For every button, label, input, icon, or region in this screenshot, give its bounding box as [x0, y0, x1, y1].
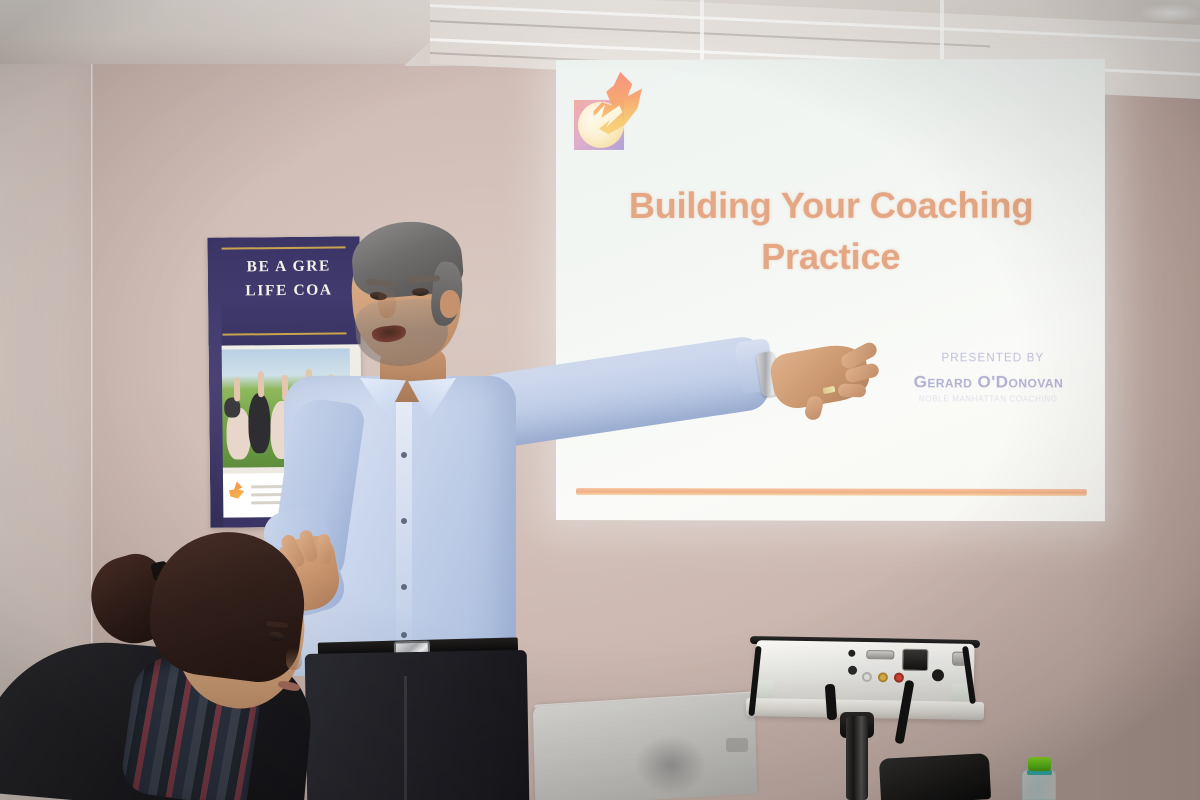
- projector-hdmi-port: [902, 649, 928, 671]
- projector-rca-red: [894, 673, 904, 683]
- poster-person: [248, 393, 271, 453]
- projector-vga-port: [866, 650, 894, 659]
- woman-nose: [286, 648, 302, 670]
- poster-flame-icon: [227, 481, 245, 501]
- ceiling-grid-rail: [940, 0, 944, 66]
- poster-raised-arm: [258, 371, 264, 397]
- presentation-room-photo: Building Your Coaching Practice Presente…: [0, 0, 1200, 800]
- shirt-button: [401, 632, 407, 638]
- projected-slide: Building Your Coaching Practice Presente…: [556, 59, 1105, 522]
- slide-title-line-2: Practice: [600, 231, 1062, 282]
- slide-accent-bar: [576, 488, 1087, 496]
- laptop-reflection: [636, 736, 706, 794]
- ceiling-light-fixture: [1140, 4, 1200, 22]
- presenter-finger: [838, 384, 866, 398]
- trouser-crease: [404, 676, 407, 800]
- poster-title-line-1: BE A GRE: [220, 254, 358, 279]
- ceiling-grid-rail: [700, 0, 704, 66]
- ceiling-projector: [755, 640, 974, 706]
- shirt-button: [401, 584, 407, 590]
- shirt-placket: [396, 386, 412, 668]
- laptop-logo-badge: [726, 738, 748, 752]
- projector-stand-pole: [846, 716, 868, 800]
- equipment-bag: [879, 753, 991, 800]
- projector-rca-white: [862, 672, 872, 682]
- presented-by-label: Presented By: [887, 352, 1099, 364]
- projector-port: [848, 666, 857, 675]
- slide-title: Building Your Coaching Practice: [600, 179, 1062, 282]
- bottle-cap: [1028, 757, 1051, 771]
- poster-raised-arm: [234, 377, 240, 401]
- projector-port: [848, 650, 855, 657]
- flame-swoosh-logo-icon: [570, 70, 646, 156]
- presenter-nose: [378, 288, 396, 318]
- presenter-name: Gerard O'Donovan: [875, 372, 1102, 392]
- poster-title: BE A GRE LIFE COA: [220, 254, 358, 303]
- poster-title-line-2: LIFE COA: [220, 278, 358, 303]
- slide-title-line-1: Building Your Coaching: [600, 179, 1062, 231]
- presenter-subtitle: Noble Manhattan Coaching: [875, 394, 1102, 403]
- projector-rca-yellow: [878, 672, 888, 682]
- presenter-trousers: [305, 650, 530, 800]
- presenter-finger: [317, 534, 332, 565]
- shirt-button: [401, 518, 407, 524]
- shirt-button: [401, 452, 407, 458]
- projector-audio-jack: [932, 669, 944, 681]
